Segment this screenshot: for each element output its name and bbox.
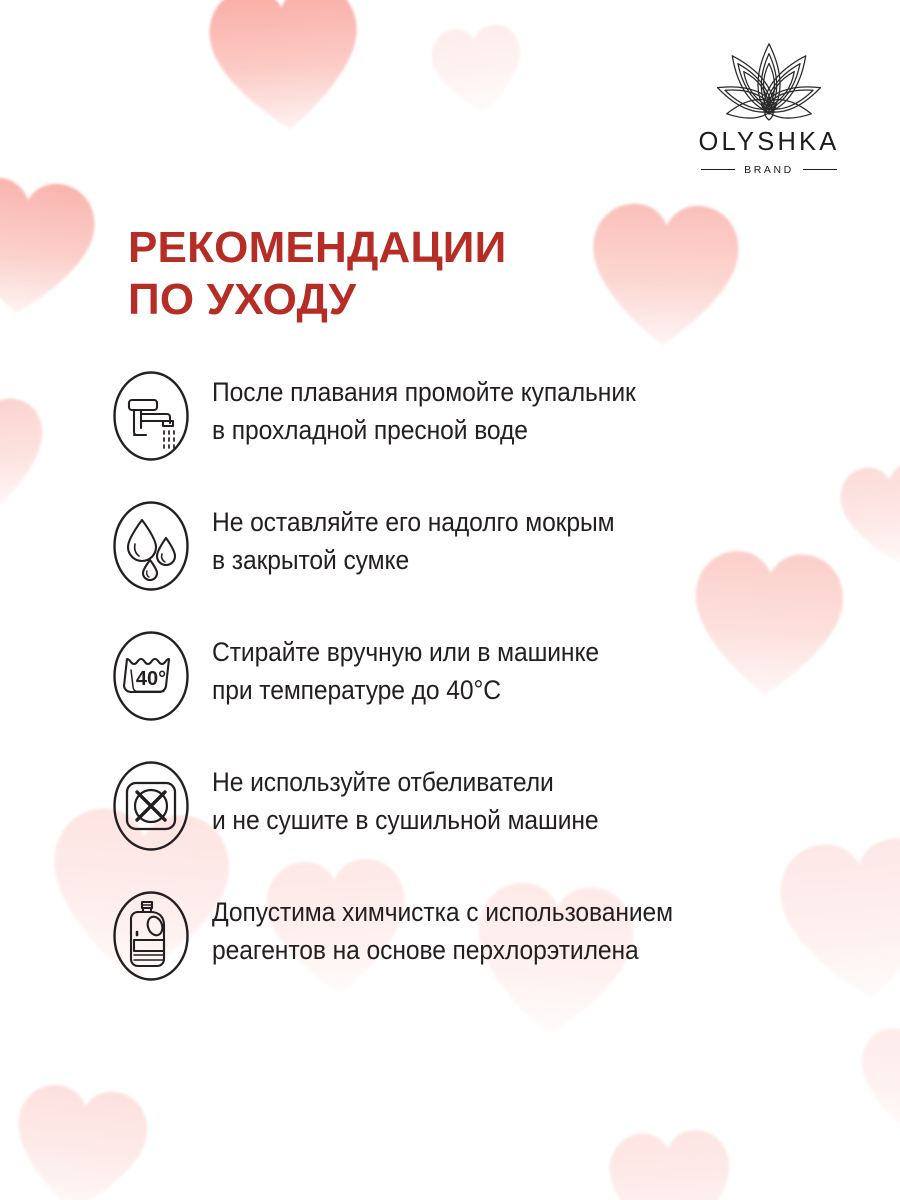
care-item-wash-40: 40° Стирайте вручную или в машинке при т… <box>112 628 872 722</box>
care-item-no-bleach-no-tumble: Не используйте отбеливатели и не сушите … <box>112 758 872 852</box>
heart-top-right-faint <box>425 18 531 121</box>
care-instructions-page: OLYSHKA BRAND РЕКОМЕНДАЦИИ ПО УХОДУ <box>0 0 900 1200</box>
logo-rule-right <box>803 169 837 170</box>
care-text-line-1: Не используйте отбеливатели <box>212 764 826 802</box>
heart-left-mid <box>0 390 57 520</box>
care-item-do-not-store-wet: Не оставляйте его надолго мокрым в закры… <box>112 498 872 592</box>
no-tumble-dry-cross-icon <box>112 760 190 852</box>
page-title-line-1: РЕКОМЕНДАЦИИ <box>128 222 506 274</box>
brand-subtext-row: BRAND <box>676 165 862 176</box>
heart-top-left-edge <box>0 169 105 326</box>
brand-wordmark: OLYSHKA <box>676 130 862 156</box>
brand-subtext: BRAND <box>744 165 794 176</box>
detergent-bottle-icon <box>112 890 190 982</box>
care-item-dry-clean: Допустима химчистка с использованием реа… <box>112 888 872 982</box>
care-text-line-2: реагентов на основе перхлорэтилена <box>212 932 826 970</box>
heart-top-center <box>200 0 370 139</box>
heart-bottom-center <box>602 1124 740 1200</box>
heart-bottom-left <box>2 1076 157 1200</box>
care-item-text: После плавания промойте купальник в прох… <box>212 368 826 449</box>
care-item-text: Не используйте отбеливатели и не сушите … <box>212 758 826 839</box>
faucet-water-icon <box>112 370 190 462</box>
page-title-line-2: ПО УХОДУ <box>128 274 506 326</box>
wash-temperature-label: 40° <box>136 668 166 690</box>
care-text-line-1: Стирайте вручную или в машинке <box>212 634 826 672</box>
care-item-text: Допустима химчистка с использованием реа… <box>212 888 826 969</box>
care-text-line-1: Допустима химчистка с использованием <box>212 894 826 932</box>
care-text-line-2: при температуре до 40°С <box>212 672 826 710</box>
heart-bottom-right-edge <box>853 1023 900 1143</box>
care-item-rinse: После плавания промойте купальник в прох… <box>112 368 872 462</box>
care-item-text: Не оставляйте его надолго мокрым в закры… <box>212 498 826 579</box>
care-instructions-list: После плавания промойте купальник в прох… <box>112 368 872 982</box>
care-text-line-2: в прохладной пресной воде <box>212 412 826 450</box>
care-text-line-1: После плавания промойте купальник <box>212 374 826 412</box>
water-drops-icon <box>112 500 190 592</box>
wash-tub-40-icon: 40° <box>112 630 190 722</box>
care-text-line-2: в закрытой сумке <box>212 542 826 580</box>
care-text-line-1: Не оставляйте его надолго мокрым <box>212 504 826 542</box>
heart-upper-right <box>583 197 746 352</box>
logo-rule-left <box>701 169 735 170</box>
brand-logo: OLYSHKA BRAND <box>676 36 862 175</box>
care-item-text: Стирайте вручную или в машинке при темпе… <box>212 628 826 709</box>
care-text-line-2: и не сушите в сушильной машине <box>212 802 826 840</box>
lotus-flower-icon <box>710 36 828 122</box>
page-title: РЕКОМЕНДАЦИИ ПО УХОДУ <box>128 222 506 327</box>
